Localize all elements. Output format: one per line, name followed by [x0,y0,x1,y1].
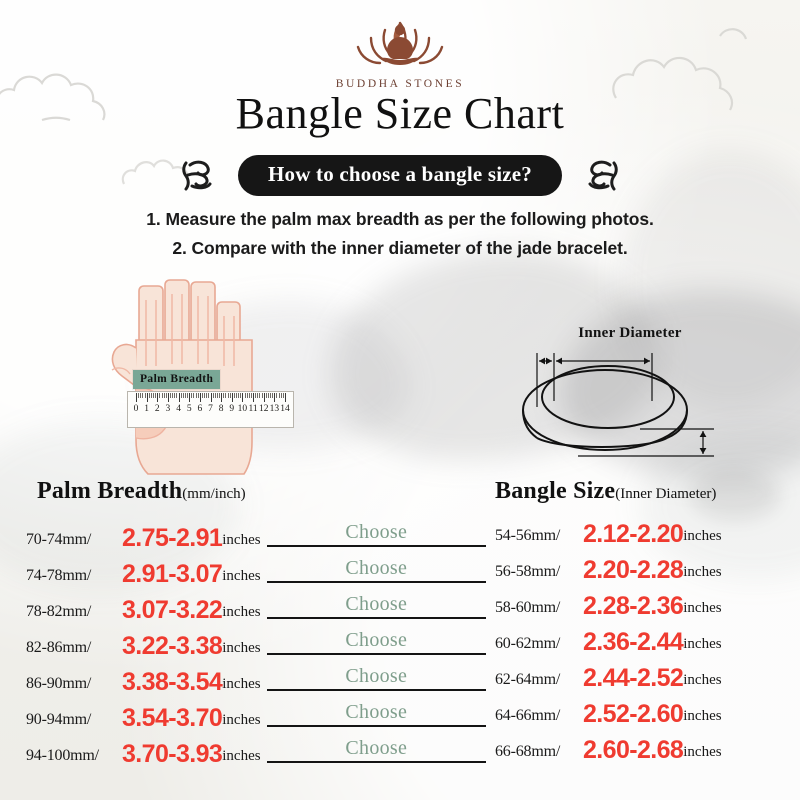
ruler-tick [285,393,286,402]
ruler-tick [242,393,243,402]
ruler-tick [140,393,141,398]
ruler-tick [251,393,252,398]
table-row: 62-64mm/2.44-2.52inches [495,664,790,700]
ruler-tick [159,393,160,398]
choose-underline [267,617,486,619]
instruction-line-2: 2. Compare with the inner diameter of th… [0,234,800,263]
bangle-size-table: 54-56mm/2.12-2.20inches56-58mm/2.20-2.28… [495,520,790,772]
size-inch-value: 2.12-2.20 [583,522,683,547]
choose-field[interactable]: Choose [267,700,486,730]
palm-breadth-header-sub: (mm/inch) [182,486,245,502]
instructions-block: 1. Measure the palm max breadth as per t… [0,205,800,263]
ruler-tick [225,393,226,398]
subtitle-pill: How to choose a bangle size? [238,155,562,196]
size-mm-value: 90-94mm/ [26,711,122,729]
size-inch-value: 2.36-2.44 [583,630,683,655]
ruler-tick [217,393,218,398]
size-inch-value: 2.28-2.36 [583,594,683,619]
ruler-tick [230,393,231,398]
ruler-tick [281,393,282,398]
size-mm-value: 70-74mm/ [26,531,122,549]
ruler-tick [211,393,212,402]
table-row[interactable]: 78-82mm/3.07-3.22inchesChoose [26,592,486,628]
size-unit-label: inches [683,600,721,617]
size-unit-label: inches [222,676,260,693]
ruler-tick [259,393,260,398]
palm-breadth-header-main: Palm Breadth [37,478,182,504]
size-unit-label: inches [222,532,260,549]
choose-field[interactable]: Choose [267,556,486,586]
size-mm-value: 78-82mm/ [26,603,122,621]
ruler-number: 9 [229,404,234,414]
choose-field[interactable]: Choose [267,736,486,766]
swirl-ornament-icon [576,156,620,196]
page-title: Bangle Size Chart [0,88,800,139]
size-unit-label: inches [683,636,721,653]
swirl-ornament-icon [180,156,224,196]
ruler-number: 7 [208,404,213,414]
ruler-tick [274,393,275,402]
size-mm-value: 94-100mm/ [26,747,122,765]
size-inch-value: 3.22-3.38 [122,634,222,659]
ruler-tick [204,393,205,398]
ruler-tick [153,393,154,398]
choose-label[interactable]: Choose [345,737,407,760]
table-row: 66-68mm/2.60-2.68inches [495,736,790,772]
table-row: 54-56mm/2.12-2.20inches [495,520,790,556]
choose-label[interactable]: Choose [345,665,407,688]
ruler-tick [170,393,171,398]
ruler-number: 13 [270,404,280,414]
choose-label[interactable]: Choose [345,629,407,652]
table-row[interactable]: 86-90mm/3.38-3.54inchesChoose [26,664,486,700]
ruler-tick [164,393,165,398]
ruler-tick [168,393,169,402]
size-mm-value: 62-64mm/ [495,671,583,689]
size-mm-value: 66-68mm/ [495,743,583,761]
ruler-tick [215,393,216,398]
ruler-tick [262,393,263,398]
palm-breadth-table: 70-74mm/2.75-2.91inchesChoose74-78mm/2.9… [26,520,486,772]
table-row[interactable]: 70-74mm/2.75-2.91inchesChoose [26,520,486,556]
ruler-tick [196,393,197,398]
size-unit-label: inches [222,748,260,765]
ruler-tick [157,393,158,402]
ruler-tick [219,393,220,398]
bangle-inner-diameter-illustration: Inner Diameter [500,325,750,475]
size-unit-label: inches [683,708,721,725]
ruler-number: 8 [219,404,224,414]
size-inch-value: 3.54-3.70 [122,706,222,731]
ruler-tick [181,393,182,398]
ruler-tick [142,393,143,398]
ruler-number: 1 [144,404,149,414]
size-mm-value: 60-62mm/ [495,635,583,653]
ruler-tick [279,393,280,398]
ruler-tick [155,393,156,398]
ruler-tick [183,393,184,398]
ruler-tick [198,393,199,398]
palm-breadth-column-header: Palm Breadth(mm/inch) [37,478,246,505]
ruler-tick [240,393,241,398]
ruler-number: 2 [155,404,160,414]
ruler-tick [174,393,175,398]
size-inch-value: 2.52-2.60 [583,702,683,727]
table-row: 64-66mm/2.52-2.60inches [495,700,790,736]
size-mm-value: 74-78mm/ [26,567,122,585]
ruler-tick [138,393,139,398]
ruler-tick [223,393,224,398]
ruler-tick [189,393,190,402]
ruler-tick [202,393,203,398]
ruler-tick [145,393,146,398]
subtitle-row: How to choose a bangle size? [0,155,800,196]
ruler-tick [266,393,267,398]
table-row: 58-60mm/2.28-2.36inches [495,592,790,628]
table-row: 60-62mm/2.36-2.44inches [495,628,790,664]
ruler-tick [147,393,148,402]
choose-label[interactable]: Choose [345,521,407,544]
ruler-number: 12 [259,404,269,414]
palm-breadth-label: Palm Breadth [133,370,220,389]
size-inch-value: 2.91-3.07 [122,562,222,587]
bangle-size-header-sub: (Inner Diameter) [615,486,716,502]
choose-underline [267,725,486,727]
ruler-tick [276,393,277,398]
ruler-tick [206,393,207,398]
choose-underline [267,581,486,583]
ruler-tick [176,393,177,398]
size-inch-value: 3.07-3.22 [122,598,222,623]
ruler-tick [187,393,188,398]
ruler-tick [151,393,152,398]
ruler-tick [191,393,192,398]
ruler-tick [193,393,194,398]
size-unit-label: inches [683,744,721,761]
ruler-number: 11 [248,404,257,414]
ruler-tick [234,393,235,398]
instruction-line-1: 1. Measure the palm max breadth as per t… [0,205,800,234]
ruler-tick [232,393,233,402]
size-inch-value: 3.38-3.54 [122,670,222,695]
choose-label[interactable]: Choose [345,557,407,580]
size-unit-label: inches [222,604,260,621]
ruler-tick [149,393,150,398]
ruler-tick [253,393,254,402]
size-unit-label: inches [222,712,260,729]
bangle-ring-icon [500,325,750,475]
table-row: 56-58mm/2.20-2.28inches [495,556,790,592]
size-unit-label: inches [222,568,260,585]
palm-measurement-illustration: Palm Breadth 01234567891011121314 [100,278,335,478]
size-unit-label: inches [683,528,721,545]
ruler-tick [264,393,265,402]
ruler-tick [172,393,173,398]
ruler-tick [236,393,237,398]
choose-field[interactable]: Choose [267,664,486,694]
size-mm-value: 58-60mm/ [495,599,583,617]
size-unit-label: inches [683,672,721,689]
size-inch-value: 3.70-3.93 [122,742,222,767]
ruler-number: 14 [280,404,290,414]
size-unit-label: inches [222,640,260,657]
lotus-meditation-icon [338,14,462,76]
size-mm-value: 86-90mm/ [26,675,122,693]
ruler-tick [162,393,163,398]
ruler-tick [283,393,284,398]
size-mm-value: 64-66mm/ [495,707,583,725]
size-mm-value: 82-86mm/ [26,639,122,657]
ruler-number: 10 [238,404,248,414]
ruler-number: 5 [187,404,192,414]
ruler-number: 3 [166,404,171,414]
inner-diameter-label: Inner Diameter [540,325,720,342]
ruler-tick [245,393,246,398]
ruler-tick [136,393,137,402]
ruler-tick [228,393,229,398]
ruler-tick [208,393,209,398]
ruler-number: 4 [176,404,181,414]
ruler-tick [238,393,239,398]
brand-logo: BUDDHA STONES [0,14,800,90]
choose-underline [267,761,486,763]
ruler-tick [166,393,167,398]
ruler-tick [249,393,250,398]
size-mm-value: 54-56mm/ [495,527,583,545]
table-row[interactable]: 90-94mm/3.54-3.70inchesChoose [26,700,486,736]
table-row[interactable]: 74-78mm/2.91-3.07inchesChoose [26,556,486,592]
ruler-tick [270,393,271,398]
ruler-tick [200,393,201,402]
choose-field[interactable]: Choose [267,520,486,550]
ruler-tick [185,393,186,398]
ruler-tick [247,393,248,398]
ruler-tick [255,393,256,398]
choose-label[interactable]: Choose [345,701,407,724]
choose-label[interactable]: Choose [345,593,407,616]
bangle-size-header-main: Bangle Size [495,478,615,504]
ruler-tick [257,393,258,398]
size-inch-value: 2.20-2.28 [583,558,683,583]
ruler-icon: 01234567891011121314 [127,391,294,428]
ruler-tick [221,393,222,402]
size-inch-value: 2.75-2.91 [122,526,222,551]
size-mm-value: 56-58mm/ [495,563,583,581]
size-inch-value: 2.44-2.52 [583,666,683,691]
choose-underline [267,653,486,655]
ruler-number: 6 [197,404,202,414]
ruler-tick [272,393,273,398]
choose-underline [267,689,486,691]
ruler-tick [268,393,269,398]
bangle-size-chart-page: BUDDHA STONES Bangle Size Chart How to c… [0,0,800,800]
ruler-tick [179,393,180,402]
choose-field[interactable]: Choose [267,628,486,658]
size-inch-value: 2.60-2.68 [583,738,683,763]
bangle-size-column-header: Bangle Size(Inner Diameter) [495,478,716,505]
size-unit-label: inches [683,564,721,581]
ruler-number: 0 [134,404,139,414]
choose-underline [267,545,486,547]
ruler-tick [213,393,214,398]
table-row[interactable]: 82-86mm/3.22-3.38inchesChoose [26,628,486,664]
choose-field[interactable]: Choose [267,592,486,622]
table-row[interactable]: 94-100mm/3.70-3.93inchesChoose [26,736,486,772]
